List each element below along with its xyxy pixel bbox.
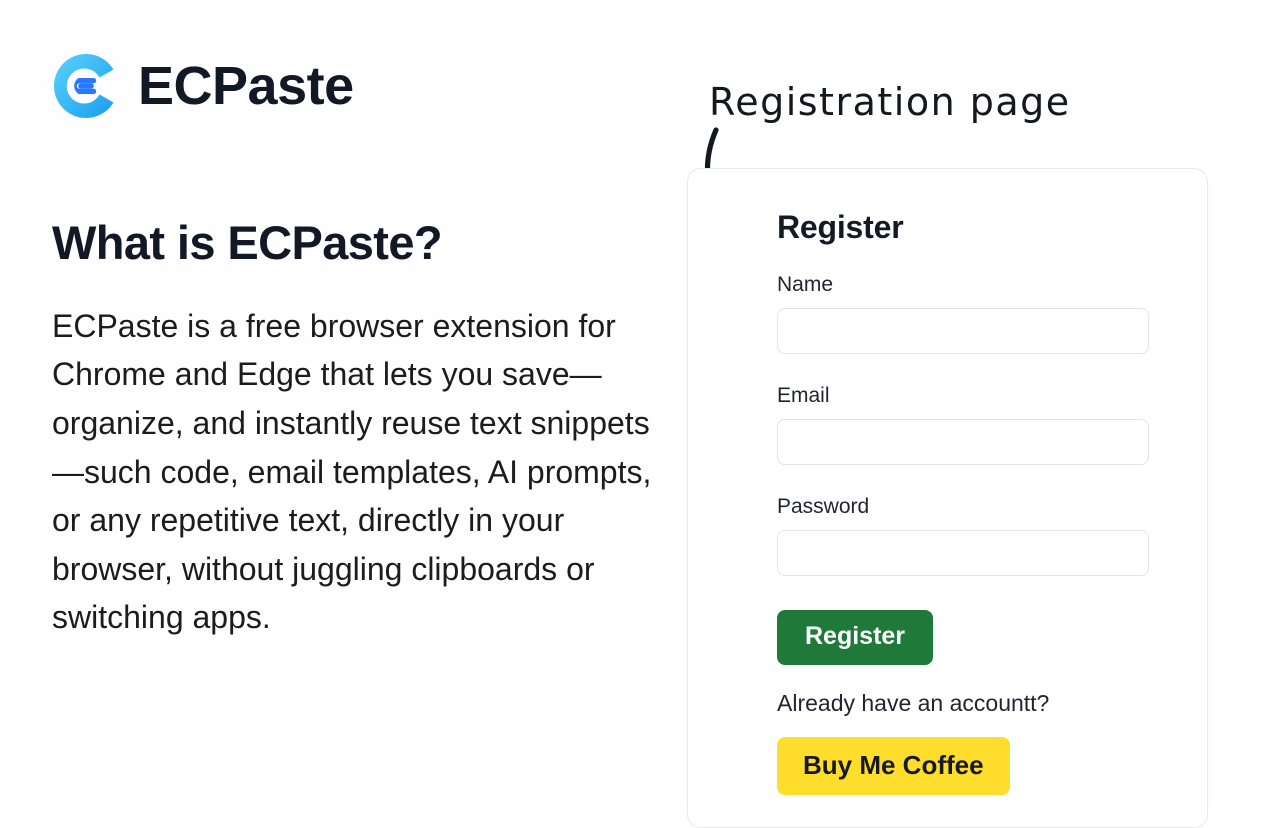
name-label: Name [777, 273, 1147, 296]
annotation-label: Registration page [709, 80, 1071, 124]
password-input[interactable] [777, 530, 1149, 576]
email-input[interactable] [777, 419, 1149, 465]
intro-column: ECPaste What is ECPaste? ECPaste is a fr… [52, 40, 672, 674]
ecpaste-logo-icon [52, 52, 120, 120]
register-card-body: Register Name Email Password Register Al… [688, 169, 1207, 795]
register-heading: Register [777, 211, 1147, 243]
register-card: Register Name Email Password Register Al… [687, 168, 1208, 828]
form-field-name: Name [777, 273, 1147, 354]
register-button[interactable]: Register [777, 610, 933, 665]
email-label: Email [777, 384, 1147, 407]
brand-header: ECPaste [52, 40, 672, 132]
page-title: What is ECPaste? [52, 217, 672, 269]
name-input[interactable] [777, 308, 1149, 354]
brand-name: ECPaste [138, 59, 354, 113]
login-hint-text: Already have an accountt? [777, 691, 1147, 716]
landing-page: ECPaste What is ECPaste? ECPaste is a fr… [0, 0, 1280, 800]
form-field-password: Password [777, 495, 1147, 576]
form-field-email: Email [777, 384, 1147, 465]
intro-paragraph: ECPaste is a free browser extension for … [52, 302, 662, 642]
password-label: Password [777, 495, 1147, 518]
buy-me-coffee-button[interactable]: Buy Me Coffee [777, 737, 1010, 795]
